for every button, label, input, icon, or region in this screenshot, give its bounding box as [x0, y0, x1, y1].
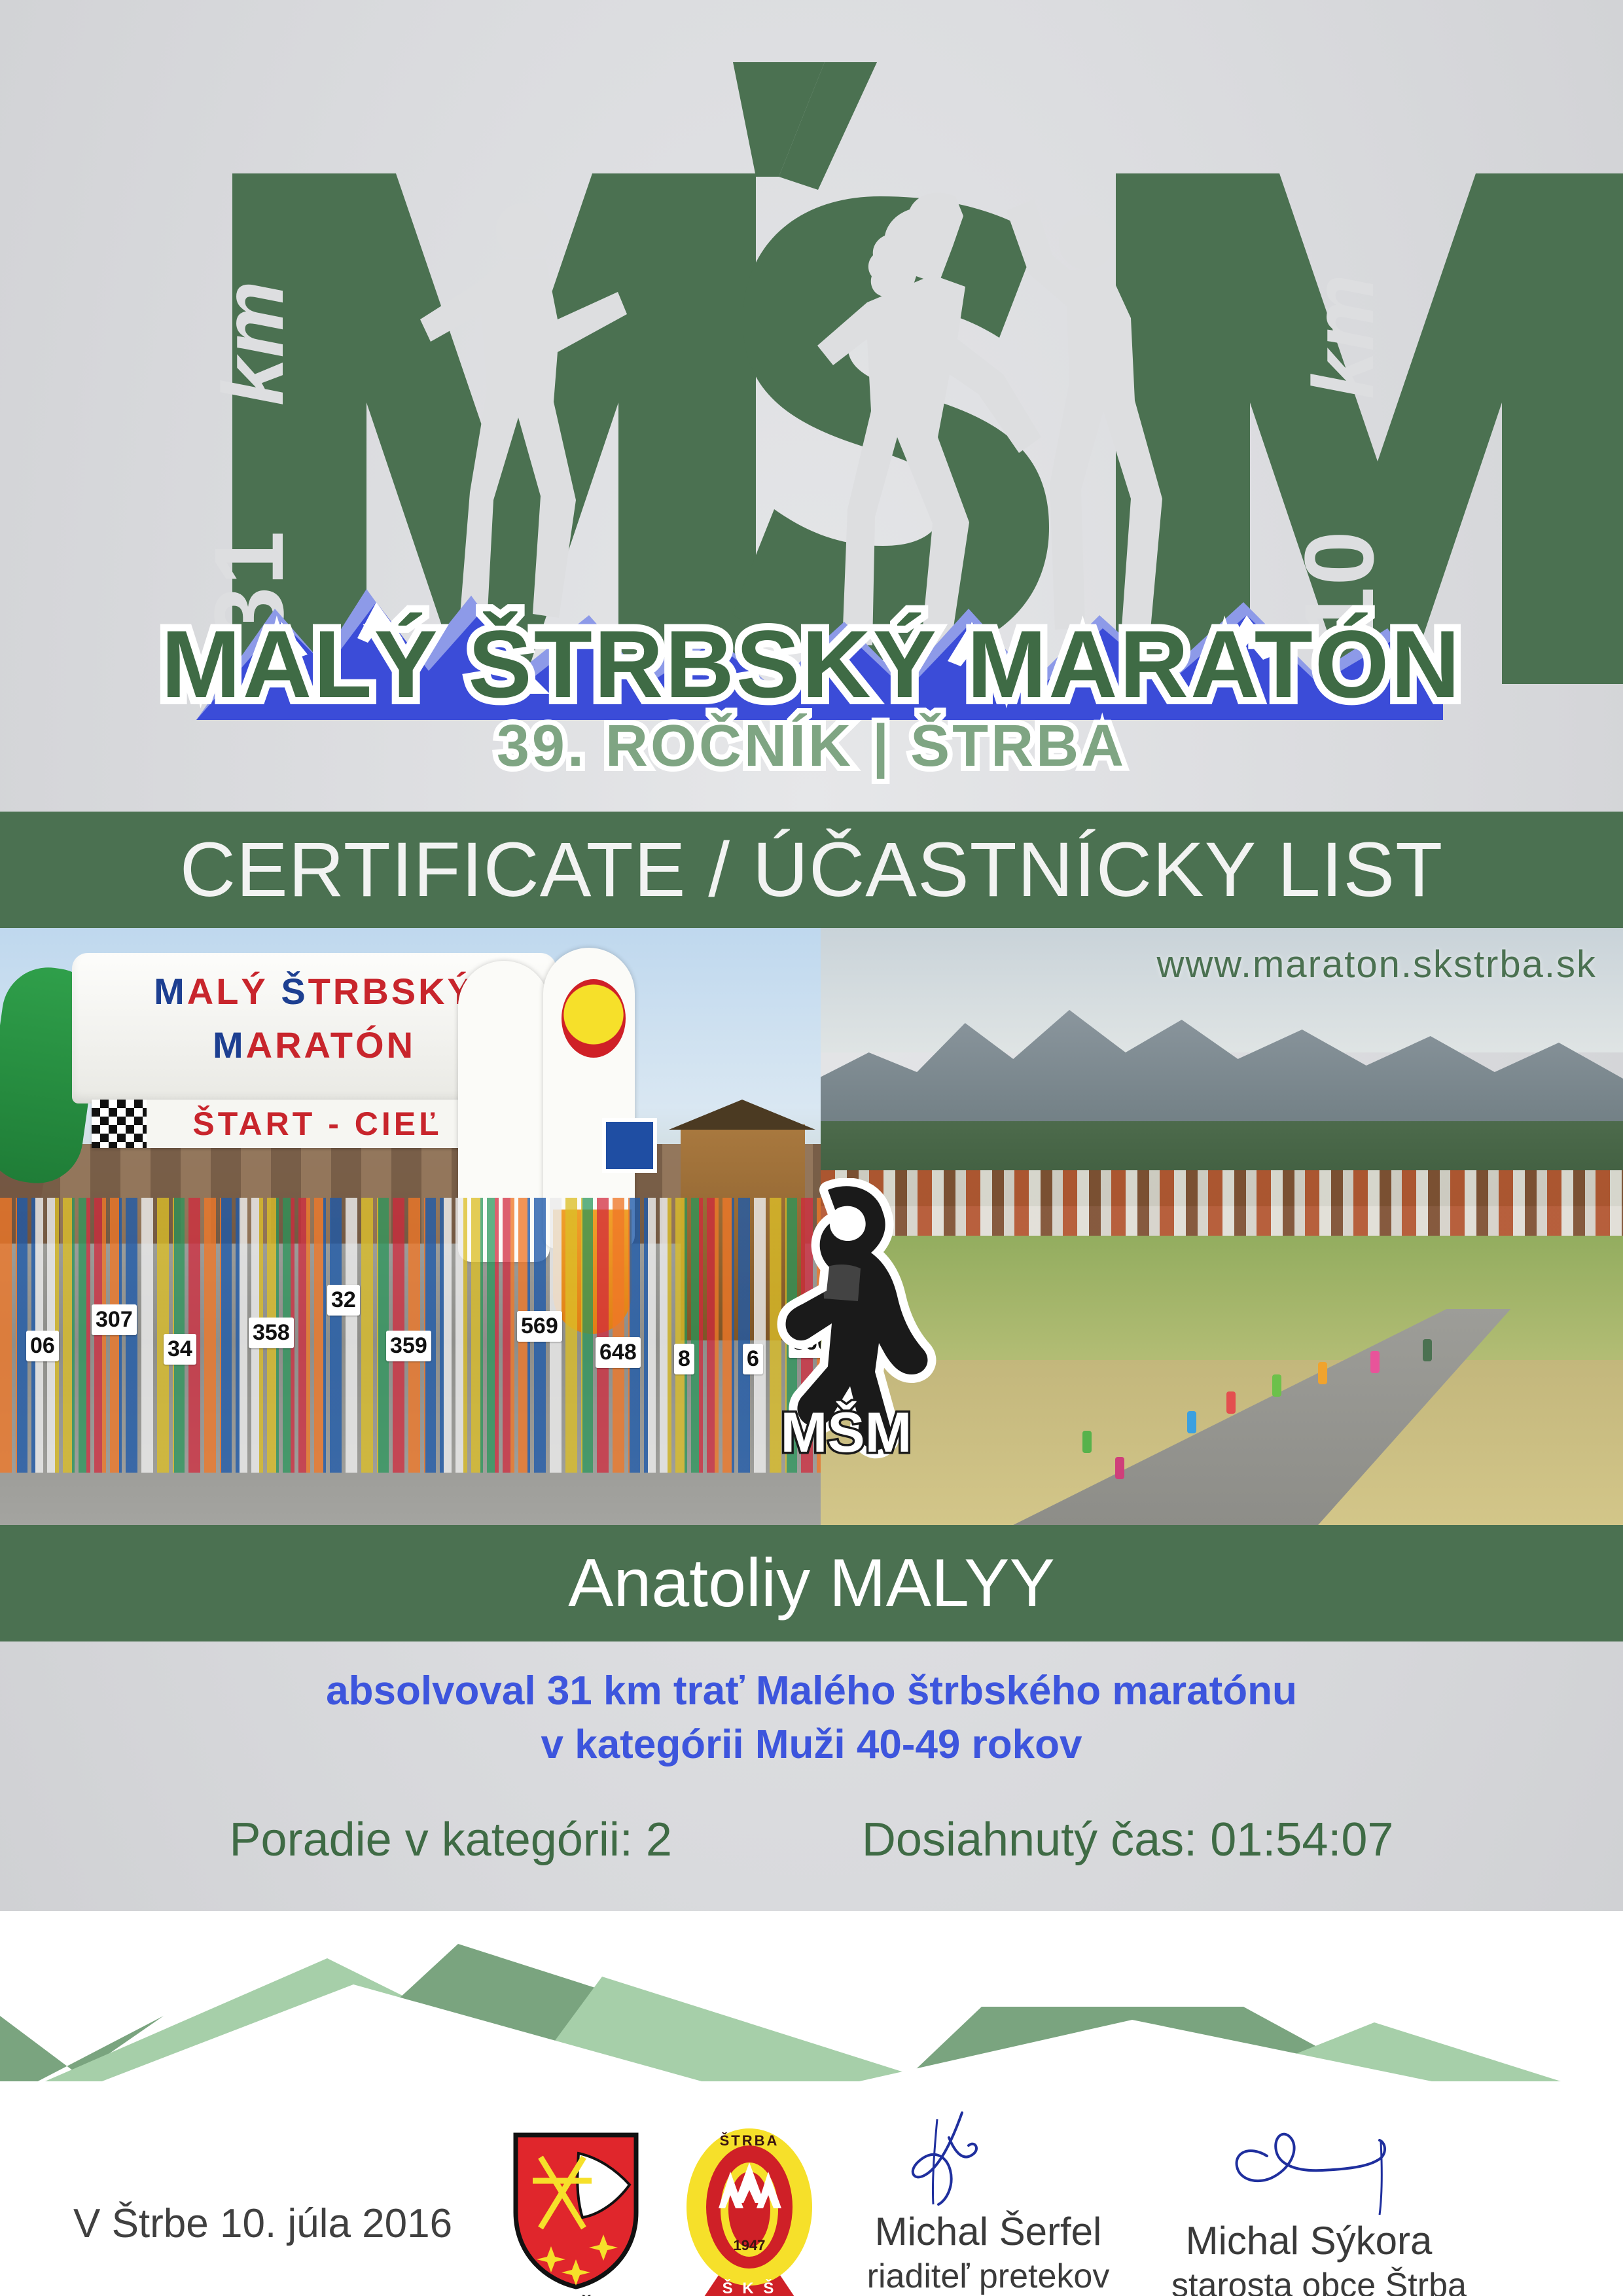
runner-dot: [1370, 1351, 1380, 1373]
bib-number: 648: [596, 1337, 641, 1368]
footer-mountain-decoration: [0, 1885, 1623, 2121]
logo-edition: 39. ROČNÍK | ŠTRBA: [497, 712, 1126, 780]
issue-date: V Štrbe 10. júla 2016: [73, 2200, 452, 2247]
signatory-role: starosta obce Štrba: [1171, 2266, 1446, 2296]
runner-dot: [1272, 1374, 1281, 1397]
signature-block-mayor: Michal Sýkora starosta obce Štrba: [1171, 2117, 1446, 2296]
footer-content: V Štrbe 10. júla 2016: [0, 2108, 1623, 2296]
certificate-footer: V Štrbe 10. júla 2016: [0, 1911, 1623, 2296]
runner-dot: [1187, 1411, 1196, 1433]
club-badge: ŠTRBA 1947 Š K Š: [681, 2126, 818, 2296]
category-rank-label: Poradie v kategórii:: [230, 1814, 633, 1866]
bib-number: 359: [386, 1331, 431, 1361]
signature-mark: [1171, 2117, 1446, 2215]
finish-time: Dosiahnutý čas: 01:54:07: [862, 1813, 1394, 1867]
category-rank: Poradie v kategórii: 2: [230, 1813, 672, 1867]
runner-dot: [1423, 1339, 1432, 1361]
certificate-page: 31 km 10: [0, 0, 1623, 2296]
msm-runner-sticker: MŠM: [743, 1178, 959, 1479]
logo-graphic: 31 km 10: [0, 0, 1623, 812]
sks-strba-club-badge: ŠTRBA 1947 Š K Š: [681, 2126, 818, 2296]
signature-block-race-director: Michal Šerfel riaditeľ pretekov: [851, 2108, 1126, 2296]
category-rank-value: 2: [646, 1814, 672, 1866]
signatory-name: Michal Šerfel: [851, 2209, 1126, 2254]
badge-bottom-text: Š K Š: [722, 2279, 777, 2296]
start-line-photo: MALÝ ŠTRBSKÝ MARATÓN ŠTART - CIEĽ 307 35…: [0, 928, 821, 1525]
bib-number: 32: [327, 1285, 360, 1316]
bib-number: 358: [249, 1318, 294, 1348]
logo-event-name: MALÝ ŠTRBSKÝ MARATÓN: [161, 611, 1462, 717]
obec-strba-coat-of-arms: Obec Štrba: [510, 2131, 641, 2296]
badge-year: 1947: [734, 2237, 766, 2253]
start-finish-text: ŠTART - CIEĽ: [192, 1105, 442, 1143]
participant-details: absolvoval 31 km trať Malého štrbského m…: [0, 1641, 1623, 1911]
coat-of-arms-shield: [510, 2131, 641, 2293]
website-url[interactable]: www.maraton.skstrba.sk: [1156, 942, 1597, 986]
svg-text:km: km: [205, 281, 301, 406]
result-row: Poradie v kategórii: 2 Dosiahnutý čas: 0…: [0, 1813, 1623, 1867]
sticker-label: MŠM: [781, 1401, 912, 1464]
runner-dot: [1318, 1362, 1327, 1384]
finish-time-label: Dosiahnutý čas:: [862, 1814, 1197, 1866]
certificate-title: CERTIFICATE / ÚČASTNÍCKY LIST: [180, 825, 1443, 914]
bib-number: 8: [674, 1344, 694, 1374]
runner-dot: [1226, 1391, 1236, 1414]
participant-name-band: Anatoliy MALYY: [0, 1525, 1623, 1641]
finish-time-value: 01:54:07: [1210, 1814, 1393, 1866]
participant-name: Anatoliy MALYY: [568, 1545, 1055, 1623]
badge-top-text: ŠTRBA: [720, 2132, 779, 2149]
certificate-title-band: CERTIFICATE / ÚČASTNÍCKY LIST: [0, 812, 1623, 928]
bib-number: 569: [517, 1311, 562, 1342]
signatory-role: riaditeľ pretekov: [851, 2257, 1126, 2296]
signature-mark: [851, 2108, 1126, 2206]
signatory-name: Michal Sýkora: [1171, 2218, 1446, 2263]
bib-number: 307: [92, 1304, 137, 1335]
sks-badge-on-flag: [562, 979, 626, 1058]
svg-text:km: km: [1295, 274, 1391, 399]
runner-dot: [1082, 1431, 1092, 1453]
description-line-2: v kategórii Muži 40-49 rokov: [0, 1721, 1623, 1768]
bib-number: 06: [26, 1331, 59, 1361]
event-logo: 31 km 10: [0, 0, 1623, 812]
bib-number: 34: [164, 1334, 196, 1365]
description-line-1: absolvoval 31 km trať Malého štrbského m…: [0, 1668, 1623, 1714]
pedestrian-crossing-sign: [602, 1118, 657, 1173]
runner-dot: [1115, 1457, 1124, 1479]
